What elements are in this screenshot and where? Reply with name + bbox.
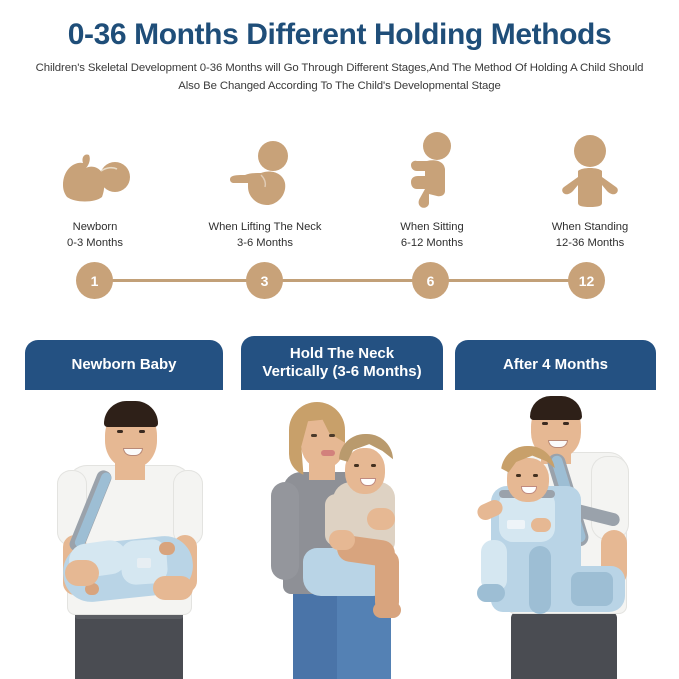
photo-supporting-hand-left <box>65 560 99 586</box>
photo-baby-hand <box>159 542 175 555</box>
photo-pants <box>511 612 617 679</box>
card-hold-neck-vertically[interactable]: Hold The Neck Vertically (3-6 Months) <box>241 336 443 679</box>
photo-woman-hand-hold <box>367 508 395 530</box>
page-subtitle: Children's Skeletal Development 0-36 Mon… <box>29 60 651 95</box>
photo-toddler-foot <box>373 602 401 618</box>
timeline-stage-standing: When Standing 12-36 Months <box>505 131 675 252</box>
stage-label: When Sitting 6-12 Months <box>347 220 517 252</box>
photo-carrier-logo <box>137 558 151 568</box>
card-header-after-4-months: After 4 Months <box>455 340 656 390</box>
photo-toddler-eye-left <box>354 464 359 467</box>
photo-hair <box>530 396 582 420</box>
timeline-stage-sitting: When Sitting 6-12 Months <box>347 131 517 252</box>
timeline-milestone-3: 3 <box>246 262 283 299</box>
timeline-milestone-6: 6 <box>412 262 449 299</box>
photo-supporting-hand-right <box>153 576 193 600</box>
card-after-4-months[interactable]: After 4 Months <box>455 336 656 679</box>
stage-label: When Standing 12-36 Months <box>505 220 675 252</box>
stage-name: When Lifting The Neck <box>209 221 322 233</box>
card-title: Newborn Baby <box>71 356 176 374</box>
card-photo-newborn-baby <box>25 390 223 679</box>
photo-carrier-pocket <box>571 572 613 606</box>
card-newborn-baby[interactable]: Newborn Baby <box>25 336 223 679</box>
photo-pants <box>75 612 183 679</box>
photo-hair <box>104 401 158 427</box>
holding-method-cards: Newborn Baby <box>0 336 679 679</box>
photo-jeans-left <box>293 582 339 679</box>
development-timeline: Newborn 0-3 Months When Lifting The Neck… <box>0 131 679 306</box>
photo-woman-eye-right <box>329 434 335 437</box>
photo-eye-right <box>139 430 145 433</box>
stage-name: When Standing <box>552 221 629 233</box>
stage-name: When Sitting <box>400 221 463 233</box>
baby-standing-icon <box>505 131 675 209</box>
baby-sitting-icon <box>347 131 517 209</box>
card-header-newborn-baby: Newborn Baby <box>25 340 223 390</box>
photo-woman-lips <box>321 450 335 456</box>
timeline-stage-newborn: Newborn 0-3 Months <box>10 131 180 252</box>
photo-toddler-hand-right <box>531 518 551 532</box>
card-title-line1: Hold The Neck <box>290 345 394 363</box>
card-photo-hold-neck-vertically <box>241 390 443 679</box>
photo-carrier-logo <box>507 520 525 529</box>
photo-eye-left <box>542 422 548 425</box>
card-title-line2: Vertically (3-6 Months) <box>262 363 421 381</box>
photo-toddler-eye-left <box>516 474 521 477</box>
photo-toddler-leg-right <box>529 546 551 614</box>
baby-lifting-neck-icon <box>180 131 350 209</box>
timeline-track <box>78 279 602 282</box>
page-title: 0-36 Months Different Holding Methods <box>0 18 679 51</box>
stage-name: Newborn <box>73 221 118 233</box>
photo-sweater-sleeve-left <box>271 482 299 580</box>
newborn-lying-icon <box>10 131 180 209</box>
timeline-milestone-1: 1 <box>76 262 113 299</box>
photo-toddler-eye-right <box>533 474 538 477</box>
stage-label: Newborn 0-3 Months <box>10 220 180 252</box>
stage-age: 6-12 Months <box>347 236 517 252</box>
timeline-milestone-12: 12 <box>568 262 605 299</box>
photo-woman-hand-support <box>329 530 355 550</box>
stage-age: 0-3 Months <box>10 236 180 252</box>
photo-woman-eye-left <box>311 434 317 437</box>
card-title: After 4 Months <box>503 356 608 374</box>
stage-label: When Lifting The Neck 3-6 Months <box>180 220 350 252</box>
photo-toddler-face <box>345 448 385 494</box>
photo-toddler-eye-right <box>371 464 376 467</box>
timeline-stage-lifting-neck: When Lifting The Neck 3-6 Months <box>180 131 350 252</box>
card-photo-after-4-months <box>455 390 656 679</box>
photo-toddler-sock-left <box>477 584 505 602</box>
card-header-hold-neck-vertically: Hold The Neck Vertically (3-6 Months) <box>241 336 443 390</box>
stage-age: 12-36 Months <box>505 236 675 252</box>
photo-eye-left <box>117 430 123 433</box>
photo-sleeve-right <box>591 456 629 540</box>
stage-age: 3-6 Months <box>180 236 350 252</box>
photo-eye-right <box>563 422 569 425</box>
page-header: 0-36 Months Different Holding Methods Ch… <box>0 18 679 95</box>
